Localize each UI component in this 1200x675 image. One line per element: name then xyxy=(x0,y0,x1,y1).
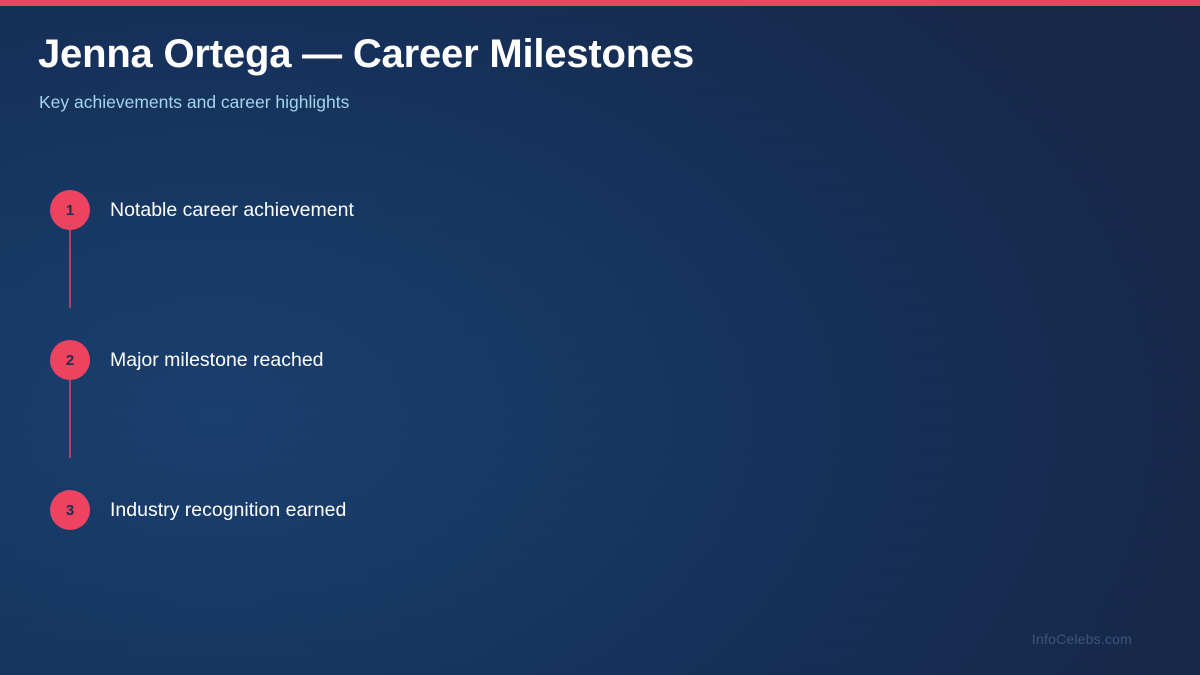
timeline-label-3: Industry recognition earned xyxy=(110,497,346,523)
timeline-item-1: 1 Notable career achievement xyxy=(0,190,1200,340)
timeline-marker-1: 1 xyxy=(50,190,90,230)
timeline-item-3: 3 Industry recognition earned xyxy=(0,490,1200,640)
timeline-connector-1 xyxy=(69,230,71,308)
timeline-item-2: 2 Major milestone reached xyxy=(0,340,1200,490)
timeline-label-1: Notable career achievement xyxy=(110,197,354,223)
timeline-marker-2: 2 xyxy=(50,340,90,380)
timeline-connector-2 xyxy=(69,380,71,458)
slide-canvas: Jenna Ortega — Career Milestones Key ach… xyxy=(0,0,1200,675)
timeline-label-2: Major milestone reached xyxy=(110,347,324,373)
timeline-marker-3: 3 xyxy=(50,490,90,530)
timeline: 1 Notable career achievement 2 Major mil… xyxy=(0,0,1200,675)
footer-watermark: InfoCelebs.com xyxy=(1032,631,1132,647)
